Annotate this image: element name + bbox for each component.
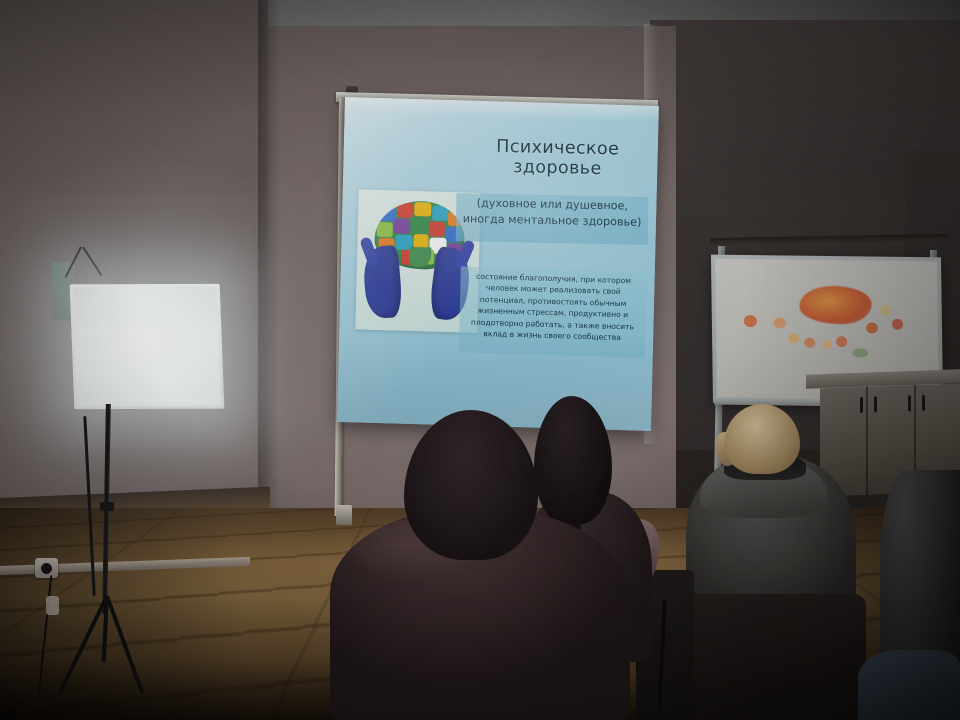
whiteboard-magnet[interactable] — [788, 334, 799, 344]
whiteboard-magnet[interactable] — [880, 305, 892, 316]
softbox-light[interactable] — [70, 284, 225, 409]
whiteboard-magnet[interactable] — [866, 322, 878, 333]
whiteboard-artwork — [799, 286, 872, 325]
hand-left-icon — [362, 245, 404, 320]
light-stand-adjuster[interactable] — [100, 502, 114, 511]
audience-person-far-right-lower — [858, 650, 960, 720]
cabinet-handle[interactable] — [860, 397, 863, 413]
whiteboard-magnet[interactable] — [892, 319, 903, 330]
softbox-diffuser — [73, 287, 222, 406]
hanging-wire — [58, 247, 120, 277]
cabinet-handle[interactable] — [922, 395, 925, 411]
slide-subtitle: (духовное или душевное, иногда ментально… — [456, 195, 648, 231]
screen-pole-foot — [336, 505, 352, 525]
whiteboard-magnet[interactable] — [836, 336, 847, 347]
projection-screen: Психическое здоровье (духовное или душев… — [337, 97, 659, 431]
power-plug — [46, 596, 59, 615]
whiteboard-magnet[interactable] — [852, 348, 868, 357]
whiteboard-magnet[interactable] — [822, 340, 832, 349]
slide-title: Психическое здоровье — [461, 137, 654, 180]
whiteboard-magnet[interactable] — [804, 338, 815, 348]
slide-body-text: состояние благополучия, при котором чело… — [461, 270, 645, 344]
cabinet-handle[interactable] — [908, 395, 911, 411]
whiteboard-magnet[interactable] — [774, 317, 786, 328]
cabinet-seam — [866, 387, 868, 495]
cabinet-handle[interactable] — [874, 396, 877, 412]
room-photo-scene: Психическое здоровье (духовное или душев… — [0, 0, 960, 720]
power-outlet[interactable] — [35, 558, 58, 578]
whiteboard-magnet[interactable] — [744, 315, 757, 327]
